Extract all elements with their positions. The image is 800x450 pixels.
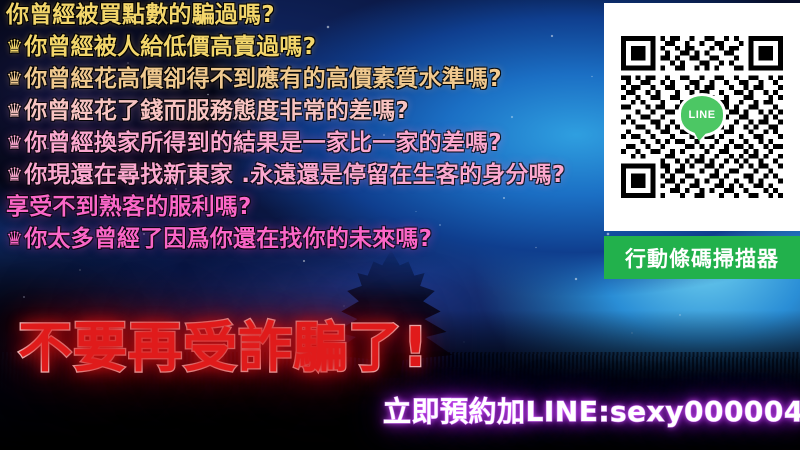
line-logo-icon: LINE [681,96,723,138]
question-line-text: 你現還在尋找新東家 .永遠還是停留在生客的身分嗎? [24,162,565,188]
barcode-scanner-button[interactable]: 行動條碼掃描器 [604,236,800,279]
question-line: 享受不到熟客的服利嗎? [6,196,666,219]
question-line: ♛你曾經被人給低價高賣過嗎? [6,36,666,59]
bullet-question-list: 你曾經被買點數的騙過嗎?♛你曾經被人給低價高賣過嗎?♛你曾經花高價卻得不到應有的… [6,4,666,260]
crown-icon: ♛ [6,230,23,249]
headline-warning: 不要再受詐騙了! [18,303,429,382]
question-line-text: 你曾經換家所得到的結果是一家比一家的差嗎? [24,130,502,156]
question-line: ♛你現還在尋找新東家 .永遠還是停留在生客的身分嗎? [6,164,666,187]
crown-icon: ♛ [6,70,23,89]
question-line: ♛你曾經花了錢而服務態度非常的差嗎? [6,100,666,123]
question-line-text: 你曾經被人給低價高賣過嗎? [24,34,316,60]
qr-code-panel[interactable]: LINE [604,3,800,231]
line-logo-label: LINE [688,109,715,121]
crown-icon: ♛ [6,38,23,57]
question-line: 你曾經被買點數的騙過嗎? [6,4,666,27]
question-line-text: 你曾經花高價卻得不到應有的高價素質水準嗎? [24,66,502,92]
question-line: ♛你曾經花高價卻得不到應有的高價素質水準嗎? [6,68,666,91]
line-id-callout: 立即預約加LINE:sexy000004 [383,390,800,430]
question-line-text: 你曾經花了錢而服務態度非常的差嗎? [24,98,409,124]
question-line-text: 你曾經被買點數的騙過嗎? [6,2,275,28]
qr-code-image[interactable]: LINE [621,36,783,198]
crown-icon: ♛ [6,134,23,153]
question-line: ♛你太多曾經了因爲你還在找你的未來嗎? [6,228,666,251]
question-line: ♛你曾經換家所得到的結果是一家比一家的差嗎? [6,132,666,155]
question-line-text: 你太多曾經了因爲你還在找你的未來嗎? [24,226,432,252]
question-line-text: 享受不到熟客的服利嗎? [6,194,252,220]
crown-icon: ♛ [6,102,23,121]
crown-icon: ♛ [6,166,23,185]
barcode-scanner-label: 行動條碼掃描器 [625,243,779,273]
advertisement-banner: 你曾經被買點數的騙過嗎?♛你曾經被人給低價高賣過嗎?♛你曾經花高價卻得不到應有的… [0,0,800,450]
